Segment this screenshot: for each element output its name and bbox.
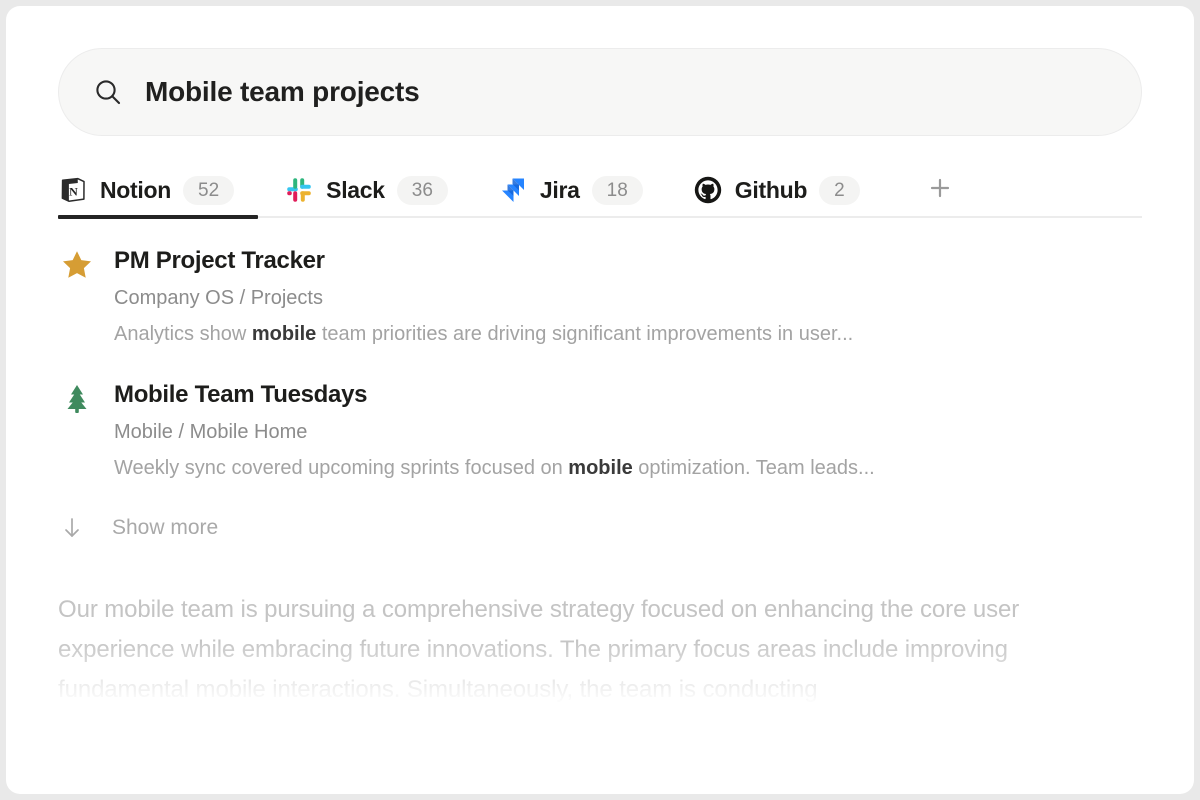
tab-slack-label: Slack [326, 177, 385, 204]
results-list: PM Project Tracker Company OS / Projects… [6, 218, 1194, 542]
tabs-divider [58, 216, 1142, 218]
result-snippet: Weekly sync covered upcoming sprints foc… [114, 455, 1142, 482]
show-more-label: Show more [112, 516, 218, 540]
app-window: Mobile team projects N Notion 52 [6, 6, 1194, 794]
tab-notion-label: Notion [100, 177, 171, 204]
tab-github-label: Github [735, 177, 807, 204]
summary-region: Our mobile team is pursuing a comprehens… [6, 542, 1194, 710]
search-input-value: Mobile team projects [145, 76, 420, 108]
tab-jira-label: Jira [540, 177, 580, 204]
evergreen-tree-emoji [58, 382, 96, 420]
active-tab-underline [58, 215, 258, 219]
slack-icon [284, 175, 314, 205]
svg-text:N: N [69, 184, 78, 198]
notion-icon: N [58, 175, 88, 205]
source-tabs: N Notion 52 [6, 164, 1194, 216]
snippet-after: optimization. Team leads... [633, 457, 875, 479]
tab-slack[interactable]: Slack 36 [284, 164, 462, 216]
github-icon [693, 175, 723, 205]
result-path: Company OS / Projects [114, 285, 1142, 311]
plus-icon [925, 173, 955, 208]
snippet-before: Weekly sync covered upcoming sprints foc… [114, 457, 568, 479]
star-emoji [58, 248, 96, 286]
result-title: Mobile Team Tuesdays [114, 380, 1142, 410]
result-snippet: Analytics show mobile team priorities ar… [114, 321, 1142, 348]
result-title: PM Project Tracker [114, 246, 1142, 276]
jira-icon [498, 175, 528, 205]
tab-slack-count: 36 [397, 176, 448, 205]
tab-jira[interactable]: Jira 18 [498, 164, 657, 216]
tab-github[interactable]: Github 2 [693, 164, 874, 216]
show-more-button[interactable]: Show more [58, 514, 1142, 542]
snippet-before: Analytics show [114, 323, 252, 345]
tab-notion[interactable]: N Notion 52 [58, 164, 248, 216]
add-source-button[interactable] [918, 168, 962, 212]
result-item[interactable]: PM Project Tracker Company OS / Projects… [58, 246, 1142, 348]
search-input[interactable]: Mobile team projects [58, 48, 1142, 136]
arrow-down-icon [58, 514, 86, 542]
snippet-after: team priorities are driving significant … [316, 323, 853, 345]
tab-jira-count: 18 [592, 176, 643, 205]
result-path: Mobile / Mobile Home [114, 419, 1142, 445]
summary-text: Our mobile team is pursuing a comprehens… [58, 590, 1142, 710]
result-item[interactable]: Mobile Team Tuesdays Mobile / Mobile Hom… [58, 380, 1142, 482]
tab-notion-count: 52 [183, 176, 234, 205]
tab-github-count: 2 [819, 176, 860, 205]
snippet-match: mobile [252, 323, 316, 345]
search-icon [93, 77, 123, 107]
snippet-match: mobile [568, 457, 632, 479]
search-region: Mobile team projects [6, 6, 1194, 136]
